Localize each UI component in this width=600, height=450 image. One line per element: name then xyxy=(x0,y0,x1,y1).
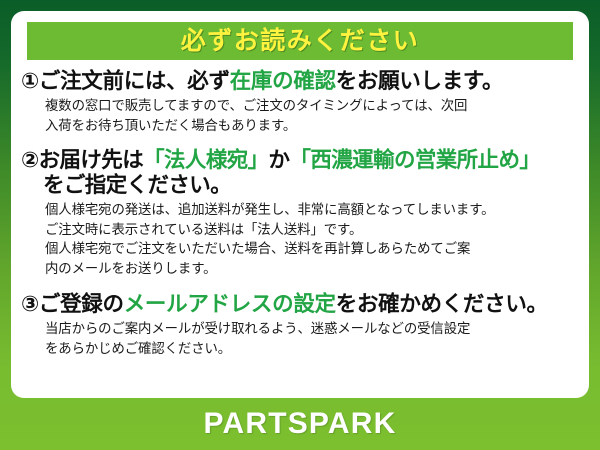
notice-item-2-heading-highlight-seino: 「西濃運輸の営業所止め」 xyxy=(289,148,540,172)
notice-item-1: ①ご注文前には、必ず在庫の確認をお願いします。 複数の窓口で販売してますので、ご… xyxy=(11,69,589,135)
notice-item-1-body-line: 入荷をお待ち頂いただく場合もあります。 xyxy=(45,116,581,136)
notice-item-3-body: 当店からのご案内メールが受け取れるよう、迷惑メールなどの受信設定 をあらかじめご… xyxy=(45,319,581,358)
notice-item-3-heading: ③ご登録のメールアドレスの設定をお確かめください。 xyxy=(21,292,581,317)
notice-item-1-heading-prefix: ご注文前には、必ず xyxy=(39,69,230,93)
notice-item-3-number: ③ xyxy=(21,292,39,316)
notice-banner: 必ずお読みください ①ご注文前には、必ず在庫の確認をお願いします。 複数の窓口で… xyxy=(0,0,600,450)
notice-item-3-body-line: をあらかじめご確認ください。 xyxy=(45,339,581,359)
notice-item-3-heading-prefix: ご登録の xyxy=(39,292,124,316)
notice-item-2-number: ② xyxy=(21,148,39,172)
notice-header-band: 必ずお読みください xyxy=(27,22,573,60)
notice-item-1-heading-suffix: をお願いします。 xyxy=(336,69,503,93)
notice-item-1-heading-highlight: 在庫の確認 xyxy=(230,69,336,93)
notice-item-2-body: 個人様宅宛の発送は、追加送料が発生し、非常に高額となってしまいます。 ご注文時に… xyxy=(45,200,581,278)
notice-item-3-body-line: 当店からのご案内メールが受け取れるよう、迷惑メールなどの受信設定 xyxy=(45,319,581,339)
brand-logo-partspark: PARTSPARK xyxy=(203,409,396,439)
notice-item-2-body-line: ご注文時に表示されている送料は「法人送料」です。 xyxy=(45,220,581,240)
notice-panel: 必ずお読みください ①ご注文前には、必ず在庫の確認をお願いします。 複数の窓口で… xyxy=(11,11,589,398)
notice-item-2-body-line: 個人様宅宛の発送は、追加送料が発生し、非常に高額となってしまいます。 xyxy=(45,200,581,220)
notice-item-1-body-line: 複数の窓口で販売してますので、ご注文のタイミングによっては、次回 xyxy=(45,96,581,116)
notice-footer: PARTSPARK xyxy=(0,398,600,450)
notice-items-list: ①ご注文前には、必ず在庫の確認をお願いします。 複数の窓口で販売してますので、ご… xyxy=(11,69,589,358)
notice-header-title: 必ずお読みください xyxy=(181,29,420,54)
notice-item-2-heading-line2: をご指定ください。 xyxy=(43,173,581,198)
notice-item-1-heading: ①ご注文前には、必ず在庫の確認をお願いします。 xyxy=(21,69,581,94)
notice-item-2-body-line: 個人様宅宛でご注文をいただいた場合、送料を再計算しあらためてご案 xyxy=(45,239,581,259)
notice-item-2-body-line: 内のメールをお送りします。 xyxy=(45,259,581,279)
notice-item-3-heading-highlight: メールアドレスの設定 xyxy=(124,292,336,316)
notice-item-2-heading-highlight-corporate: 「法人様宛」 xyxy=(143,148,268,172)
notice-item-2-heading: ②お届け先は「法人様宛」か「西濃運輸の営業所止め」をご指定ください。 xyxy=(21,148,581,198)
notice-item-2-heading-middle: か xyxy=(269,148,290,172)
notice-item-2: ②お届け先は「法人様宛」か「西濃運輸の営業所止め」をご指定ください。 個人様宅宛… xyxy=(11,148,589,278)
notice-item-3: ③ご登録のメールアドレスの設定をお確かめください。 当店からのご案内メールが受け… xyxy=(11,292,589,358)
notice-item-1-number: ① xyxy=(21,69,39,93)
notice-item-2-heading-prefix: お届け先は xyxy=(39,148,144,172)
notice-item-3-heading-suffix: をお確かめください。 xyxy=(336,292,548,316)
notice-item-1-body: 複数の窓口で販売してますので、ご注文のタイミングによっては、次回 入荷をお待ち頂… xyxy=(45,96,581,135)
